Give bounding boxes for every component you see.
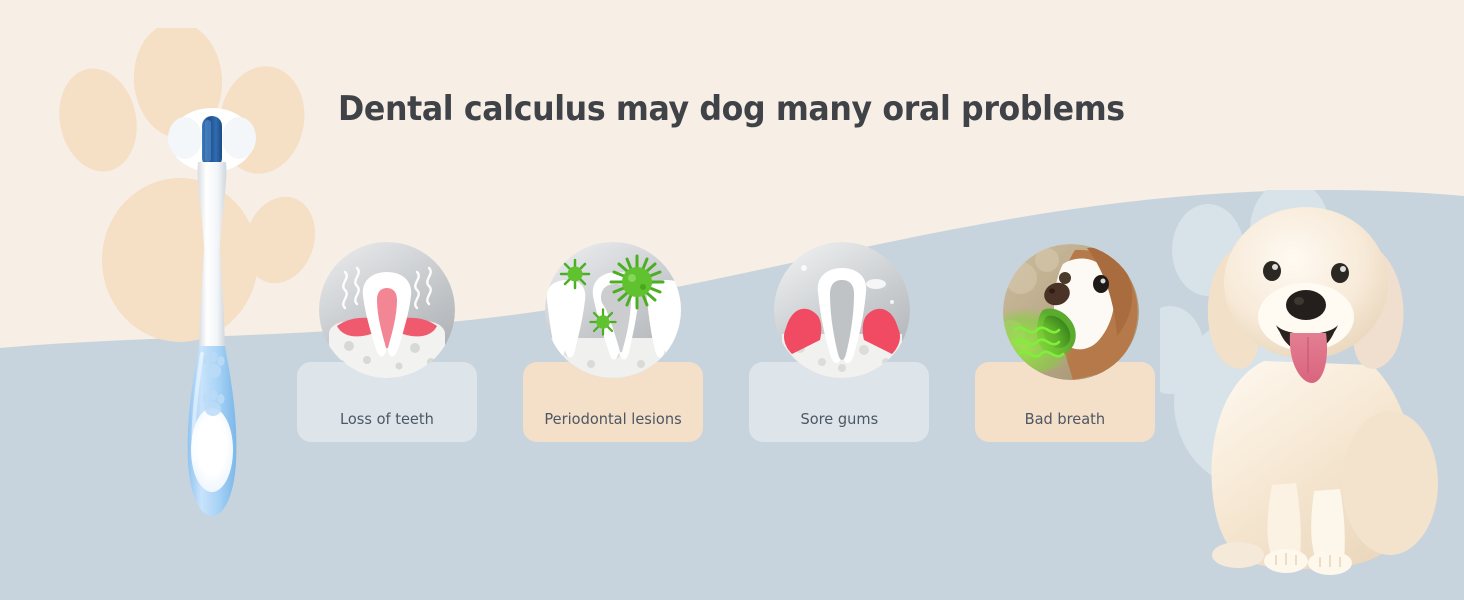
- card-label: Sore gums: [800, 410, 878, 428]
- tooth-pain-illustration: [319, 242, 455, 378]
- card-label: Bad breath: [1025, 410, 1106, 428]
- dog-bad-breath-photo: [1003, 244, 1139, 380]
- inflamed-gums-illustration: [774, 242, 910, 378]
- card-label: Periodontal lesions: [544, 410, 681, 428]
- card-label: Loss of teeth: [340, 410, 434, 428]
- bacteria-on-teeth-illustration: [545, 242, 681, 378]
- three-sided-dog-toothbrush: [152, 98, 272, 528]
- banner-root: Dental calculus may dog many oral proble…: [0, 0, 1464, 600]
- page-title: Dental calculus may dog many oral proble…: [338, 89, 1125, 129]
- golden-retriever-puppy-photo: [1168, 165, 1464, 585]
